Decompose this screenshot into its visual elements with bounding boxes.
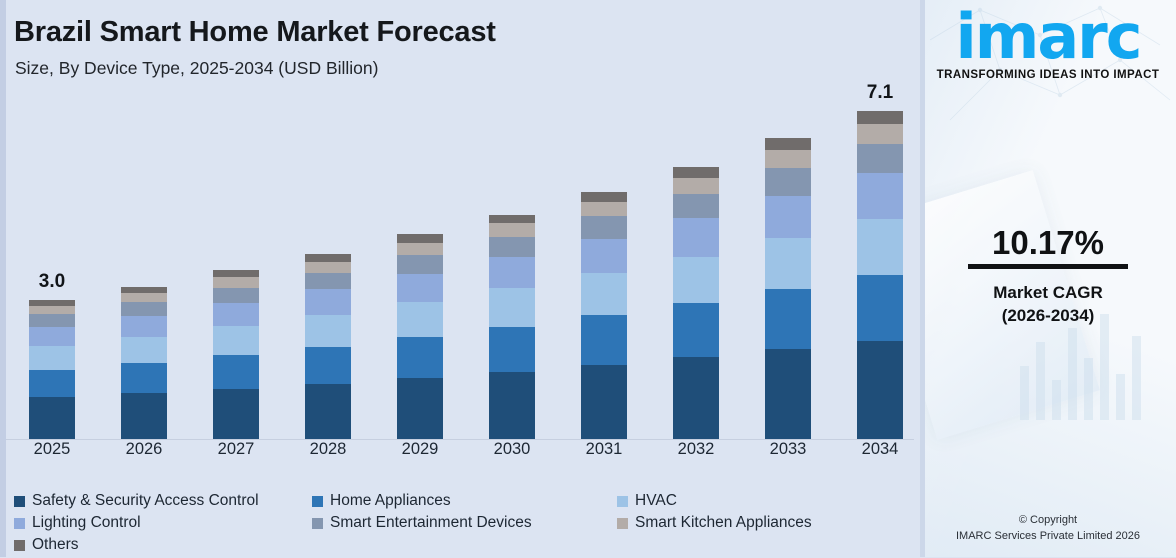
bar-segment[interactable] — [581, 273, 627, 315]
bar-segment[interactable] — [489, 237, 535, 257]
cagr-label: Market CAGR — [920, 283, 1176, 303]
chart-screenshot: Brazil Smart Home Market Forecast Size, … — [0, 0, 1176, 557]
bar-group-2033 — [742, 88, 834, 439]
legend-row: Safety & Security Access Control Home Ap… — [14, 492, 914, 510]
bar-group-2026 — [98, 88, 190, 439]
legend-label: HVAC — [635, 492, 677, 510]
bar-segment[interactable] — [765, 196, 811, 238]
bar-segment[interactable] — [29, 346, 75, 370]
page-title: Brazil Smart Home Market Forecast — [14, 16, 496, 49]
bar-group-2030 — [466, 88, 558, 439]
stacked-bar[interactable] — [213, 270, 259, 439]
bar-segment[interactable] — [213, 355, 259, 389]
bar-segment[interactable] — [397, 302, 443, 337]
bar-group-2031 — [558, 88, 650, 439]
legend-item-smart-kitchen-appliances[interactable]: Smart Kitchen Appliances — [617, 514, 907, 532]
bar-segment[interactable] — [857, 275, 903, 341]
bar-segment[interactable] — [121, 302, 167, 316]
stacked-bar[interactable] — [489, 215, 535, 439]
imarc-logo-wordmark: imarc — [955, 8, 1140, 67]
x-axis-tick-2027: 2027 — [190, 440, 282, 459]
bar-group-2027 — [190, 88, 282, 439]
stacked-bar[interactable] — [121, 287, 167, 439]
legend-item-lighting-control[interactable]: Lighting Control — [14, 514, 312, 532]
bar-segment[interactable] — [765, 150, 811, 168]
bar-total-label: 3.0 — [39, 271, 65, 293]
legend-label: Safety & Security Access Control — [32, 492, 259, 510]
bar-segment[interactable] — [397, 234, 443, 242]
bar-segment[interactable] — [581, 239, 627, 274]
bar-segment[interactable] — [673, 257, 719, 303]
stacked-bar[interactable]: 7.1 — [857, 111, 903, 439]
bar-segment[interactable] — [489, 372, 535, 439]
legend-swatch-icon — [14, 496, 25, 507]
bar-segment[interactable] — [29, 370, 75, 398]
legend-row: Lighting Control Smart Entertainment Dev… — [14, 514, 914, 532]
legend-item-hvac[interactable]: HVAC — [617, 492, 907, 510]
bar-segment[interactable] — [213, 288, 259, 303]
legend-label: Lighting Control — [32, 514, 141, 532]
bar-segment[interactable] — [489, 257, 535, 288]
bar-segment[interactable] — [397, 243, 443, 255]
bar-segment[interactable] — [29, 314, 75, 326]
bar-segment[interactable] — [305, 384, 351, 439]
bar-segment[interactable] — [857, 341, 903, 439]
bar-segment[interactable] — [121, 337, 167, 363]
bar-segment[interactable] — [765, 349, 811, 439]
bar-segment[interactable] — [121, 393, 167, 439]
stacked-bar[interactable] — [581, 192, 627, 439]
legend-swatch-icon — [312, 496, 323, 507]
bar-segment[interactable] — [397, 274, 443, 303]
bar-segment[interactable] — [305, 347, 351, 384]
bar-segment[interactable] — [581, 315, 627, 364]
legend-label: Others — [32, 536, 79, 554]
x-axis-tick-2034: 2034 — [834, 440, 926, 459]
bar-segment[interactable] — [673, 167, 719, 178]
x-axis-tick-2028: 2028 — [282, 440, 374, 459]
bar-segment[interactable] — [213, 270, 259, 277]
bar-segment[interactable] — [857, 144, 903, 174]
bar-segment[interactable] — [581, 365, 627, 439]
bar-segment[interactable] — [305, 262, 351, 273]
legend-label: Smart Kitchen Appliances — [635, 514, 812, 532]
bar-segment[interactable] — [397, 378, 443, 439]
bar-segment[interactable] — [489, 215, 535, 224]
legend-swatch-icon — [617, 518, 628, 529]
stacked-bar[interactable] — [673, 167, 719, 439]
bar-segment[interactable] — [305, 315, 351, 346]
bar-segment[interactable] — [857, 111, 903, 124]
x-axis-tick-2031: 2031 — [558, 440, 650, 459]
cagr-value: 10.17% — [920, 224, 1176, 262]
bar-segment[interactable] — [673, 218, 719, 256]
bar-segment[interactable] — [765, 238, 811, 289]
brand-panel: imarc TRANSFORMING IDEAS INTO IMPACT 10.… — [920, 0, 1176, 557]
page-subtitle: Size, By Device Type, 2025-2034 (USD Bil… — [15, 58, 378, 79]
x-axis-tick-2032: 2032 — [650, 440, 742, 459]
cagr-period: (2026-2034) — [920, 306, 1176, 326]
bar-group-2032 — [650, 88, 742, 439]
bar-segment[interactable] — [397, 255, 443, 273]
bar-segment[interactable] — [765, 289, 811, 349]
chart-panel: Brazil Smart Home Market Forecast Size, … — [0, 0, 920, 557]
stacked-bar[interactable] — [765, 138, 811, 439]
bar-segment[interactable] — [673, 303, 719, 357]
copyright-line-2: IMARC Services Private Limited 2026 — [920, 529, 1176, 545]
bar-segment[interactable] — [673, 178, 719, 194]
x-axis-tick-2026: 2026 — [98, 440, 190, 459]
legend-swatch-icon — [617, 496, 628, 507]
bar-group-2025: 3.0 — [6, 88, 98, 439]
bar-segment[interactable] — [121, 293, 167, 302]
legend-label: Smart Entertainment Devices — [330, 514, 532, 532]
chart-legend: Safety & Security Access Control Home Ap… — [14, 492, 914, 558]
legend-label: Home Appliances — [330, 492, 451, 510]
legend-item-safety-security-access-control[interactable]: Safety & Security Access Control — [14, 492, 312, 510]
legend-item-others[interactable]: Others — [14, 536, 312, 554]
copyright-line-1: © Copyright — [920, 513, 1176, 529]
bar-segment[interactable] — [489, 223, 535, 236]
bar-segment[interactable] — [29, 327, 75, 346]
plot-area: 3.07.1 — [0, 88, 920, 440]
bar-segment[interactable] — [581, 202, 627, 217]
bar-segment[interactable] — [213, 326, 259, 355]
bar-segment[interactable] — [305, 273, 351, 290]
x-axis-tick-2025: 2025 — [6, 440, 98, 459]
bar-segment[interactable] — [305, 289, 351, 315]
x-axis-labels: 2025202620272028202920302031203220332034 — [0, 440, 920, 474]
bar-segment[interactable] — [765, 138, 811, 150]
bar-group-2028 — [282, 88, 374, 439]
legend-swatch-icon — [14, 518, 25, 529]
bar-segment[interactable] — [397, 337, 443, 378]
legend-row: Others — [14, 536, 914, 554]
bar-segment[interactable] — [213, 277, 259, 287]
bar-segment[interactable] — [305, 254, 351, 261]
legend-swatch-icon — [312, 518, 323, 529]
bar-group-2034: 7.1 — [834, 88, 926, 439]
legend-item-smart-entertainment-devices[interactable]: Smart Entertainment Devices — [312, 514, 617, 532]
bar-segment[interactable] — [121, 363, 167, 393]
bar-segment[interactable] — [857, 124, 903, 144]
bar-segment[interactable] — [29, 306, 75, 314]
legend-swatch-icon — [14, 540, 25, 551]
bar-segment[interactable] — [489, 327, 535, 372]
bar-segment[interactable] — [857, 219, 903, 275]
bar-group-2029 — [374, 88, 466, 439]
bar-segment[interactable] — [213, 389, 259, 439]
x-axis-tick-2030: 2030 — [466, 440, 558, 459]
bar-segment[interactable] — [581, 192, 627, 202]
cagr-divider — [968, 264, 1128, 269]
brand-panel-left-edge — [920, 0, 925, 557]
bar-segment[interactable] — [857, 173, 903, 219]
bar-segment[interactable] — [581, 216, 627, 238]
bar-series-container: 3.07.1 — [0, 88, 920, 439]
x-axis-tick-2033: 2033 — [742, 440, 834, 459]
bar-segment[interactable] — [29, 397, 75, 439]
x-axis-tick-2029: 2029 — [374, 440, 466, 459]
bar-segment[interactable] — [765, 168, 811, 195]
imarc-logo: imarc TRANSFORMING IDEAS INTO IMPACT — [920, 8, 1176, 81]
bar-total-label: 7.1 — [867, 82, 893, 104]
bar-segment[interactable] — [673, 194, 719, 218]
bar-segment[interactable] — [121, 316, 167, 337]
stacked-bar[interactable]: 3.0 — [29, 300, 75, 439]
stacked-bar[interactable] — [397, 234, 443, 439]
bar-segment[interactable] — [213, 303, 259, 327]
bar-segment[interactable] — [489, 288, 535, 326]
legend-item-home-appliances[interactable]: Home Appliances — [312, 492, 617, 510]
bar-segment[interactable] — [673, 357, 719, 439]
stacked-bar[interactable] — [305, 254, 351, 439]
copyright-notice: © Copyright IMARC Services Private Limit… — [920, 513, 1176, 545]
